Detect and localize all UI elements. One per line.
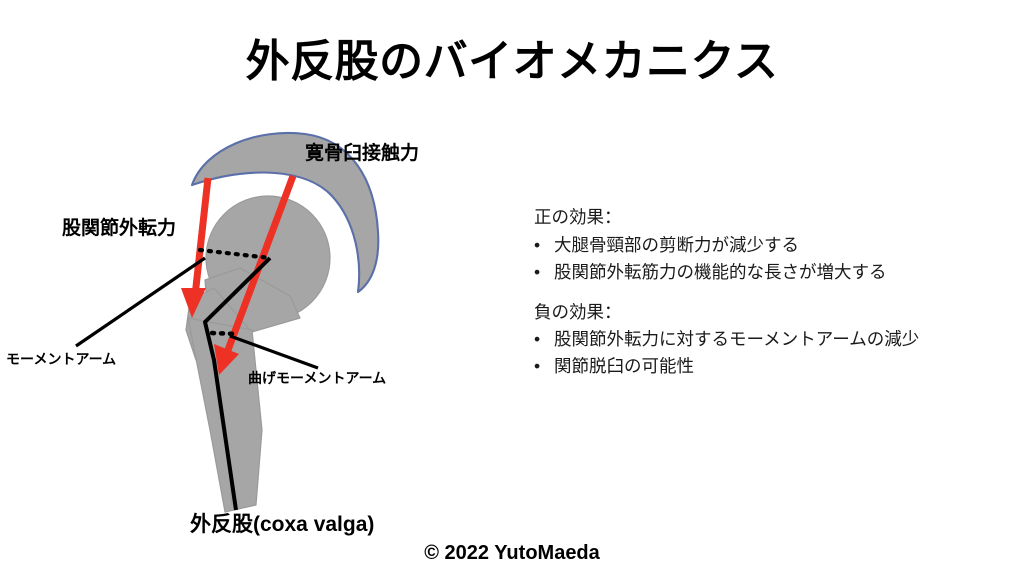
negative-effects-block: 負の効果： • 股関節外転力に対するモーメントアームの減少 • 関節脱臼の可能性	[534, 304, 1014, 377]
list-item: • 股関節外転筋力の機能的な長さが増大する	[534, 262, 1014, 282]
bullet-icon: •	[534, 235, 554, 255]
bullet-icon: •	[534, 262, 554, 282]
list-item-label: 大腿骨頸部の剪断力が減少する	[554, 235, 799, 255]
femur-diagram-svg	[0, 0, 560, 575]
effects-text-panel: 正の効果： • 大腿骨頸部の剪断力が減少する • 股関節外転筋力の機能的な長さが…	[534, 209, 1014, 377]
label-hip-abductor-force: 股関節外転力	[62, 213, 176, 240]
slide-canvas: 外反股のバイオメカニクス	[0, 0, 1024, 575]
list-item-label: 股関節外転力に対するモーメントアームの減少	[554, 329, 919, 349]
list-item-label: 関節脱臼の可能性	[554, 356, 694, 376]
moment-arm-leader-line	[76, 258, 205, 346]
list-item-label: 股関節外転筋力の機能的な長さが増大する	[554, 262, 887, 282]
femoral-shaft	[188, 318, 262, 512]
bullet-icon: •	[534, 329, 554, 349]
hip-biomechanics-illustration	[0, 0, 560, 575]
positive-effects-heading: 正の効果：	[534, 209, 1014, 227]
label-moment-arm: モーメントアーム	[6, 349, 116, 369]
figure-caption: 外反股(coxa valga)	[190, 508, 374, 538]
positive-effects-block: 正の効果： • 大腿骨頸部の剪断力が減少する • 股関節外転筋力の機能的な長さが…	[534, 209, 1014, 282]
list-item: • 股関節外転力に対するモーメントアームの減少	[534, 329, 1014, 349]
list-item: • 関節脱臼の可能性	[534, 356, 1014, 376]
negative-effects-heading: 負の効果：	[534, 304, 1014, 322]
label-acetabular-contact-force: 寛骨臼接触力	[305, 138, 419, 165]
bullet-icon: •	[534, 356, 554, 376]
bending-moment-arm-dotted-line	[212, 333, 238, 334]
copyright-notice: © 2022 YutoMaeda	[0, 542, 1024, 565]
list-item: • 大腿骨頸部の剪断力が減少する	[534, 235, 1014, 255]
label-bending-moment-arm: 曲げモーメントアーム	[248, 368, 386, 388]
